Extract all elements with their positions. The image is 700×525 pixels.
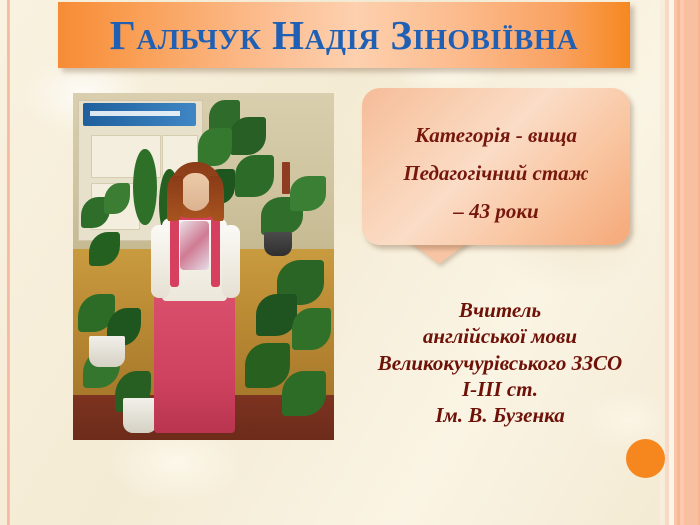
photo-board-header xyxy=(83,103,195,126)
photo-wall-ornament xyxy=(282,162,290,193)
caption-line-subject: англійської мови xyxy=(340,323,660,349)
photo-person-scarf xyxy=(211,218,220,287)
photo-person-skirt xyxy=(154,294,235,433)
slide-canvas: Гальчук Надія Зіновіївна xyxy=(0,0,700,525)
speech-bubble-text: Категорія - вища Педагогічний стаж – 43 … xyxy=(362,88,630,258)
title-banner: Гальчук Надія Зіновіївна xyxy=(58,2,630,68)
bubble-line-experience-value: – 43 роки xyxy=(453,201,538,222)
accent-circle xyxy=(626,439,665,478)
photo-flower-pot xyxy=(264,232,293,256)
caption-line-role: Вчитель xyxy=(340,297,660,323)
caption-line-named-after: Ім. В. Бузенка xyxy=(340,402,660,428)
photo-person-scarf xyxy=(170,218,179,287)
left-border-rule xyxy=(7,0,10,525)
teacher-photo xyxy=(73,93,334,440)
bubble-line-category: Категорія - вища xyxy=(415,125,577,146)
photo-plant-leaf xyxy=(198,128,232,166)
photo-person-hair xyxy=(167,176,183,221)
photo-person-blouse xyxy=(180,221,209,270)
photo-person-sleeve xyxy=(151,225,169,298)
photo-plant-leaf xyxy=(282,371,326,416)
photo-person-hair xyxy=(209,176,225,221)
right-border-stripes xyxy=(660,0,700,525)
photo-flower-pot xyxy=(123,398,157,433)
bubble-line-experience-label: Педагогічний стаж xyxy=(403,163,588,184)
photo-person-sleeve xyxy=(222,225,240,298)
info-speech-bubble: Категорія - вища Педагогічний стаж – 43 … xyxy=(362,88,630,258)
photo-plant-leaf xyxy=(292,308,331,350)
photo-person-face xyxy=(180,173,211,211)
position-caption: Вчитель англійської мови Великокучурівсь… xyxy=(340,297,660,428)
page-title: Гальчук Надія Зіновіївна xyxy=(110,15,578,56)
photo-plant-leaf xyxy=(133,149,156,225)
photo-flower-pot xyxy=(89,336,126,367)
caption-line-school: Великокучурівського ЗЗСО xyxy=(340,350,660,376)
photo-plant-leaf xyxy=(235,155,274,197)
caption-line-levels: I-III ст. xyxy=(340,376,660,402)
photo-plant-leaf xyxy=(290,176,327,211)
photo-plant-leaf xyxy=(245,343,289,388)
photo-content xyxy=(73,93,334,440)
